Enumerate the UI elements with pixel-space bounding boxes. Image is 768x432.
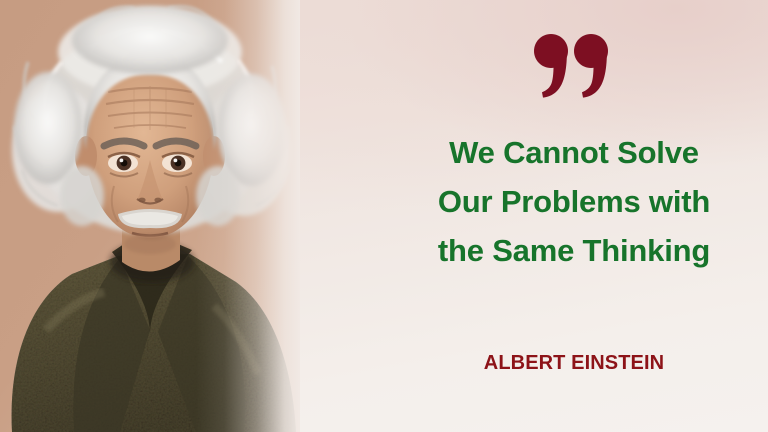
quote-line-2: Our Problems with bbox=[386, 177, 762, 226]
portrait-photo bbox=[0, 0, 300, 432]
quote-line-3: the Same Thinking bbox=[386, 226, 762, 275]
quote-line-1: We Cannot Solve bbox=[386, 128, 762, 177]
quote-card: We Cannot Solve Our Problems with the Sa… bbox=[0, 0, 768, 432]
quote-panel: We Cannot Solve Our Problems with the Sa… bbox=[380, 0, 768, 432]
quote-attribution: ALBERT EINSTEIN bbox=[380, 352, 768, 375]
double-quote-icon bbox=[380, 34, 768, 98]
einstein-portrait bbox=[0, 0, 300, 432]
quote-text: We Cannot Solve Our Problems with the Sa… bbox=[380, 128, 768, 275]
